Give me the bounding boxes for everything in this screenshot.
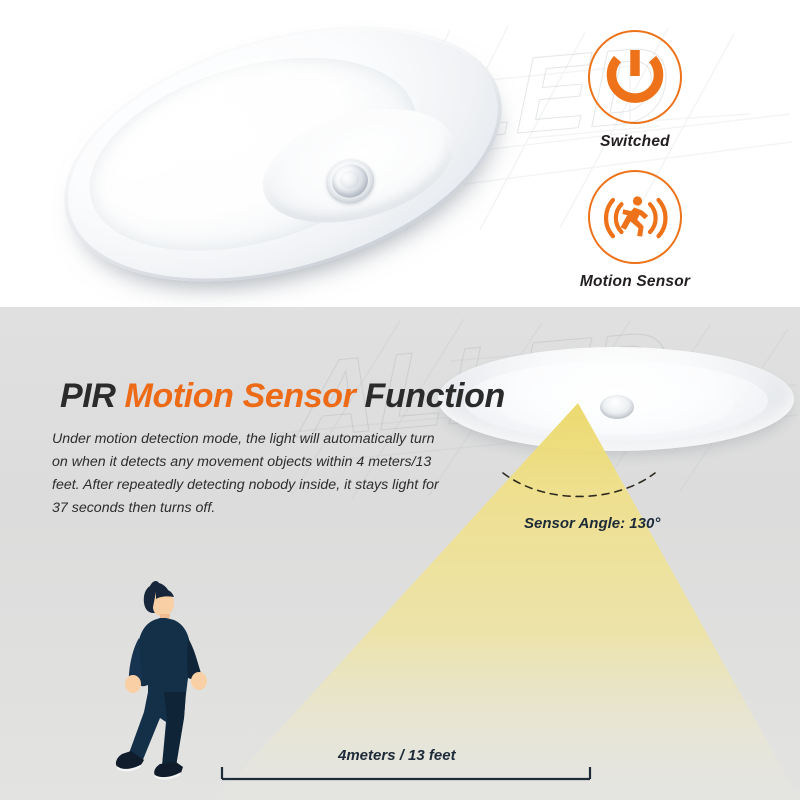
heading-part1: PIR xyxy=(60,377,125,415)
sensor-angle-label: Sensor Angle: 130° xyxy=(524,515,660,532)
distance-label: 4meters / 13 feet xyxy=(338,747,456,764)
heading-accent: Motion Sensor xyxy=(125,377,356,415)
fixture-sensor-dome-icon xyxy=(600,395,634,419)
description-text: Under motion detection mode, the light w… xyxy=(52,428,440,520)
bottom-panel: ALLED Sensor Angle: 130° xyxy=(0,307,800,800)
feature-motion-label: Motion Sensor xyxy=(545,273,725,291)
page-title: PIR Motion Sensor Function xyxy=(60,377,505,416)
feature-motion-circle xyxy=(588,170,682,264)
product-housing xyxy=(35,0,532,307)
sensor-angle-arc xyxy=(503,473,655,496)
motion-sensor-icon xyxy=(590,172,680,262)
feature-switched: Switched xyxy=(545,30,725,151)
feature-motion-sensor: Motion Sensor xyxy=(545,170,725,291)
product-photo xyxy=(48,22,518,284)
feature-switched-circle xyxy=(588,30,682,124)
power-button-icon xyxy=(590,32,680,122)
top-panel: ALLED Switched xyxy=(0,0,800,307)
feature-switched-label: Switched xyxy=(545,133,725,151)
product-infographic: ALLED Switched xyxy=(0,0,800,800)
heading-part2: Function xyxy=(355,377,504,415)
